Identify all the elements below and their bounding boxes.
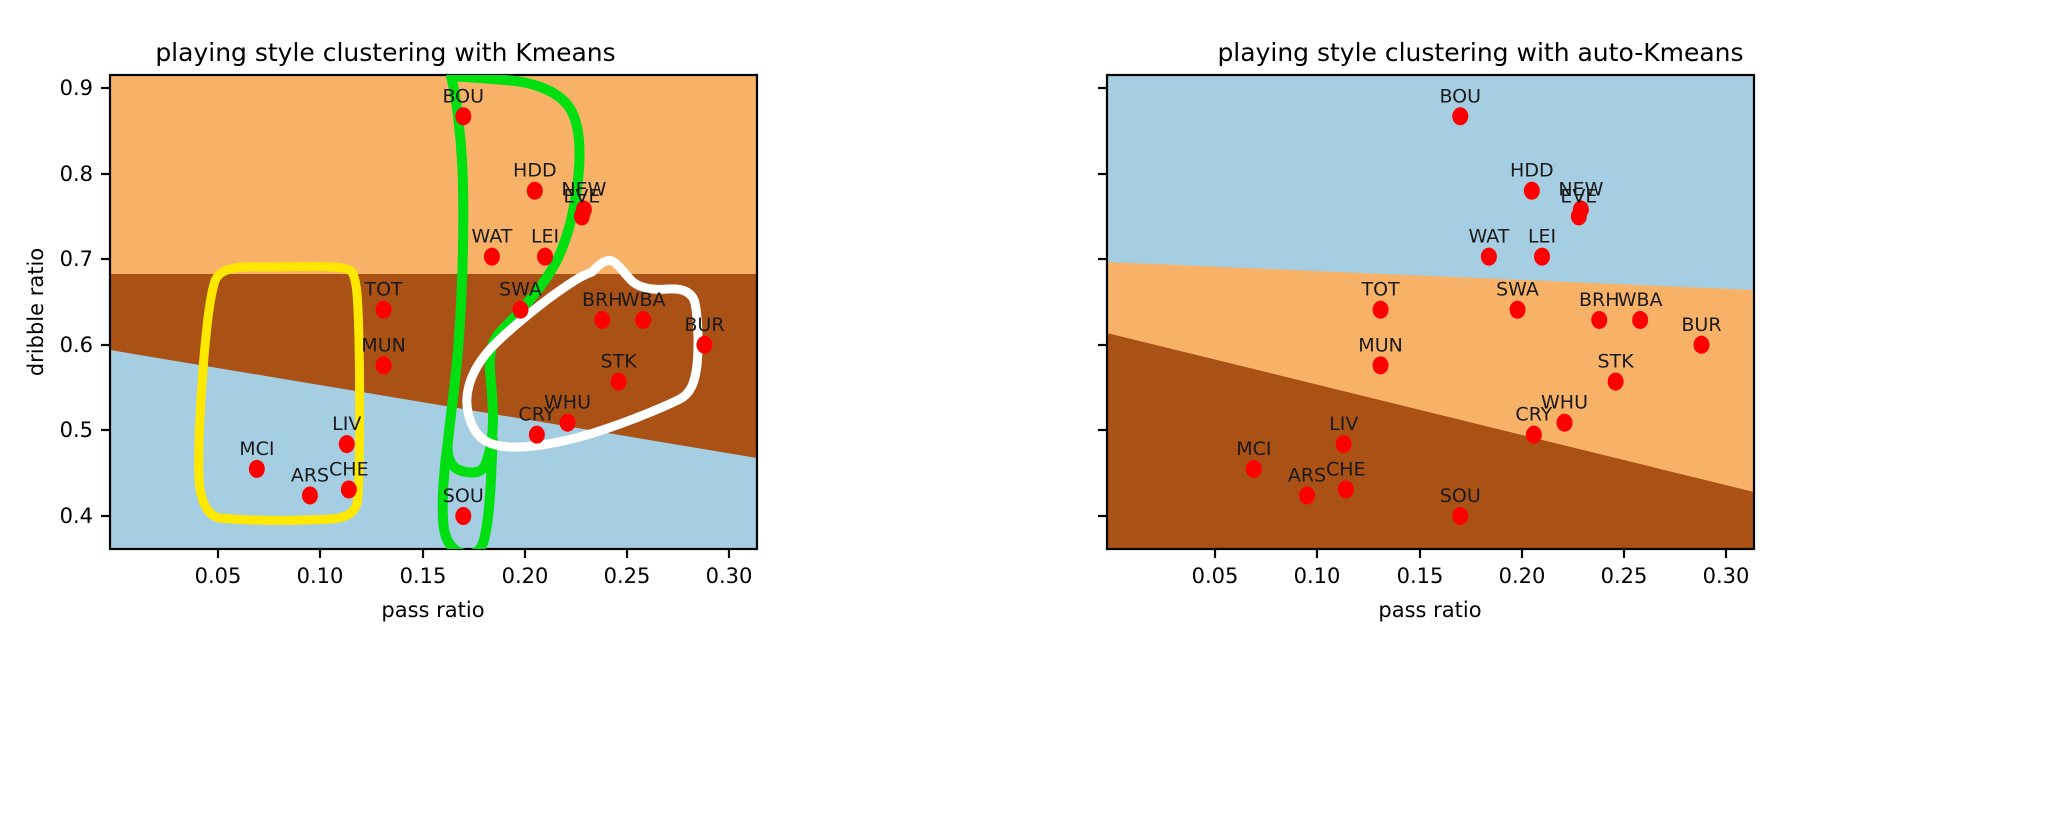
ytick-0: 0.4 — [60, 504, 93, 528]
data-point-marker — [537, 248, 553, 266]
data-point-label: BRH — [582, 289, 623, 311]
ytick-1: 0.5 — [60, 418, 93, 442]
data-point-label: CRY — [1515, 404, 1552, 426]
y-axis-kmeans: 0.4 0.5 0.6 0.7 0.8 0.9 dribble ratio — [24, 76, 110, 528]
data-point-label: CHE — [329, 458, 369, 480]
x-axis-title-auto-kmeans: pass ratio — [1378, 598, 1481, 622]
data-point-marker — [1510, 301, 1526, 319]
data-point-label: CRY — [518, 404, 555, 426]
panel-kmeans: playing style clustering with Kmeans — [0, 0, 1027, 820]
plot-auto-kmeans: 0.05 0.10 0.15 0.20 0.25 0.30 pass ratio… — [1027, 0, 2054, 820]
data-point-label: LEI — [531, 226, 559, 248]
data-point-marker — [1632, 311, 1648, 329]
data-point-marker — [1299, 486, 1315, 504]
data-point-label: STK — [601, 351, 638, 373]
xtick-3: 0.20 — [502, 564, 549, 588]
xtick-r-5: 0.30 — [1703, 564, 1750, 588]
data-point-marker — [1534, 248, 1550, 266]
data-point-marker — [1481, 248, 1497, 266]
data-point-marker — [594, 311, 610, 329]
data-point-label: CHE — [1326, 458, 1366, 480]
figure-canvas: playing style clustering with Kmeans — [0, 0, 2054, 820]
data-point-label: BUR — [1681, 314, 1721, 336]
data-point-label: BOU — [1439, 85, 1481, 107]
data-point-marker — [1693, 336, 1709, 354]
data-point-marker — [1452, 107, 1468, 125]
xtick-r-3: 0.20 — [1499, 564, 1546, 588]
data-point-marker — [455, 107, 471, 125]
data-point-label: TOT — [1360, 279, 1400, 301]
data-point-marker — [1373, 301, 1389, 319]
x-axis-title-kmeans: pass ratio — [381, 598, 484, 622]
data-point-marker — [1524, 182, 1540, 200]
data-point-marker — [1336, 435, 1352, 453]
data-point-marker — [574, 207, 590, 225]
data-point-marker — [527, 182, 543, 200]
x-axis-auto-kmeans: 0.05 0.10 0.15 0.20 0.25 0.30 pass ratio — [1192, 549, 1750, 622]
data-point-label: BUR — [684, 314, 724, 336]
data-point-marker — [1373, 356, 1389, 374]
data-point-marker — [1591, 311, 1607, 329]
data-point-label: WAT — [471, 226, 512, 248]
decision-regions-auto-kmeans — [1107, 75, 1754, 549]
data-point-label: EVE — [563, 185, 600, 207]
data-point-label: MCI — [1236, 438, 1271, 460]
data-point-label: MUN — [1358, 334, 1403, 356]
data-point-marker — [249, 460, 265, 478]
data-point-marker — [560, 414, 576, 432]
panel-auto-kmeans: playing style clustering with auto-Kmean… — [1027, 0, 2054, 820]
data-point-marker — [1526, 426, 1542, 444]
xtick-r-4: 0.25 — [1601, 564, 1648, 588]
data-point-label: SOU — [1440, 485, 1481, 507]
data-point-marker — [611, 373, 627, 391]
data-point-marker — [1338, 480, 1354, 498]
data-point-label: SWA — [499, 279, 542, 301]
data-point-label: HDD — [513, 160, 557, 182]
data-point-marker — [513, 301, 529, 319]
data-point-marker — [529, 426, 545, 444]
data-point-marker — [1557, 414, 1573, 432]
y-axis-title-kmeans: dribble ratio — [24, 248, 48, 376]
data-point-marker — [635, 311, 651, 329]
xtick-r-2: 0.15 — [1397, 564, 1444, 588]
data-point-label: WBA — [1618, 289, 1663, 311]
data-point-marker — [1246, 460, 1262, 478]
data-point-label: SWA — [1496, 279, 1539, 301]
data-point-marker — [341, 480, 357, 498]
x-axis-kmeans: 0.05 0.10 0.15 0.20 0.25 0.30 pass ratio — [195, 549, 753, 622]
ytick-5: 0.9 — [60, 76, 93, 100]
data-point-marker — [696, 336, 712, 354]
y-axis-auto-kmeans — [1098, 88, 1107, 516]
data-point-marker — [1452, 507, 1468, 525]
xtick-r-1: 0.10 — [1294, 564, 1341, 588]
data-point-marker — [1608, 373, 1624, 391]
ytick-3: 0.7 — [60, 247, 93, 271]
xtick-r-0: 0.05 — [1192, 564, 1239, 588]
data-point-label: LEI — [1528, 226, 1556, 248]
data-point-label: BOU — [442, 85, 484, 107]
data-point-label: WAT — [1468, 226, 1509, 248]
data-point-label: SOU — [443, 485, 484, 507]
ytick-2: 0.6 — [60, 333, 93, 357]
data-point-label: MUN — [361, 334, 406, 356]
data-point-label: MCI — [239, 438, 274, 460]
data-point-label: LIV — [332, 413, 361, 435]
data-point-label: EVE — [1560, 185, 1597, 207]
xtick-1: 0.10 — [297, 564, 344, 588]
data-point-label: BRH — [1579, 289, 1620, 311]
data-point-label: LIV — [1329, 413, 1358, 435]
xtick-0: 0.05 — [195, 564, 242, 588]
data-point-label: WBA — [621, 289, 666, 311]
data-point-marker — [1571, 207, 1587, 225]
data-point-marker — [455, 507, 471, 525]
data-point-marker — [484, 248, 500, 266]
xtick-2: 0.15 — [400, 564, 447, 588]
ytick-4: 0.8 — [60, 162, 93, 186]
data-point-marker — [376, 356, 392, 374]
data-point-label: ARS — [1288, 464, 1326, 486]
data-point-label: STK — [1598, 351, 1635, 373]
data-point-label: ARS — [291, 464, 329, 486]
plot-kmeans: 0.05 0.10 0.15 0.20 0.25 0.30 pass ratio… — [0, 0, 1027, 820]
data-point-marker — [339, 435, 355, 453]
data-point-label: HDD — [1510, 160, 1554, 182]
xtick-5: 0.30 — [706, 564, 753, 588]
data-point-marker — [302, 486, 318, 504]
data-point-marker — [376, 301, 392, 319]
xtick-4: 0.25 — [604, 564, 651, 588]
data-point-label: TOT — [363, 279, 403, 301]
